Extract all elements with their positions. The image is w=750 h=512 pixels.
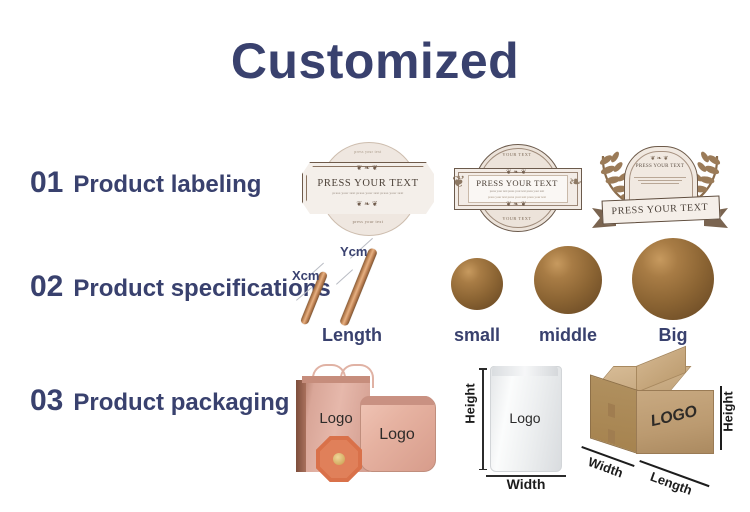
label-c-banner-text: PRESS YOUR TEXT — [602, 197, 719, 224]
sphere-small — [451, 258, 503, 310]
leader-line-y2 — [336, 269, 353, 284]
caption-sphere-middle: middle — [528, 325, 608, 346]
label-c-text-lines — [634, 174, 686, 187]
row-text-03: Product packaging — [73, 389, 289, 417]
caption-sphere-small: small — [437, 325, 517, 346]
vintage-label-laurel-crest: ❦❧❦ PRESS YOUR TEXT PRESS YOUR TEXT — [592, 142, 728, 236]
dimension-label-y: Ycm — [340, 244, 367, 259]
vintage-label-octagon: press your text ❦❧❦ PRESS YOUR TEXT pres… — [298, 142, 438, 234]
length-sticks-illustration: Xcm Ycm — [292, 238, 412, 328]
gift-packaging-illustration: Logo Logo — [296, 366, 436, 486]
label-b-top-text: YOUR TEXT — [452, 152, 582, 157]
label-a-bottom-text: press your text — [298, 219, 438, 224]
label-a-ornament-bottom-icon: ❦❧❦ — [298, 200, 438, 208]
label-c-crest-text: PRESS YOUR TEXT — [592, 164, 728, 169]
row-label-02: 02 Product specifications — [30, 270, 331, 304]
row-number-01: 01 — [30, 166, 63, 200]
sphere-big — [632, 238, 714, 320]
label-b-ornament-top-icon: ❦❧❦ — [452, 168, 582, 176]
row-number-03: 03 — [30, 384, 63, 418]
page-title: Customized — [0, 32, 750, 90]
caption-length: Length — [292, 325, 412, 346]
woven-sack-illustration: Logo Height Width — [460, 362, 580, 490]
square-tin-logo-text: Logo — [360, 426, 434, 444]
label-a-sub-text: press your text press your text press yo… — [298, 191, 438, 195]
customized-infographic: Customized 01 Product labeling press you… — [0, 0, 750, 512]
carton-height-label: Height — [721, 382, 736, 442]
label-b-bottom-text: YOUR TEXT — [452, 216, 582, 221]
woven-sack-logo-text: Logo — [490, 410, 560, 426]
carton-flap-tab-lower — [608, 429, 615, 444]
sack-width-label: Width — [486, 476, 566, 492]
label-a-top-text: press your text — [298, 150, 438, 154]
label-b-ornament-bottom-icon: ❦❧❦ — [452, 200, 582, 208]
row-label-01: 01 Product labeling — [30, 166, 261, 200]
label-b-sub-text-2: press your text press your text press yo… — [452, 195, 582, 199]
label-b-sub-text-1: press your text press your text press yo… — [452, 189, 582, 193]
label-b-flourish-right-icon: ❧ — [569, 172, 582, 191]
carton-flap-tab-upper — [608, 403, 615, 418]
label-c-ornament-icon: ❦❧❦ — [592, 155, 728, 162]
row-label-03: 03 Product packaging — [30, 384, 289, 418]
label-a-main-text: PRESS YOUR TEXT — [298, 178, 438, 189]
carton-box-illustration: LOGO Height Length Width — [578, 364, 744, 494]
woven-sack-top — [492, 366, 558, 376]
stick-long — [339, 247, 378, 326]
octagon-box-medallion-icon — [333, 453, 345, 465]
label-b-main-text: PRESS YOUR TEXT — [452, 178, 582, 188]
label-b-flourish-left-icon: ❦ — [452, 172, 465, 191]
sphere-middle — [534, 246, 602, 314]
square-tin-lid — [360, 396, 434, 405]
caption-sphere-big: Big — [633, 325, 713, 346]
label-a-ornament-top-icon: ❦❧❦ — [298, 164, 438, 172]
sack-height-dimension-line — [482, 368, 484, 470]
vintage-label-circle-band: YOUR TEXT ❦❧❦ PRESS YOUR TEXT press your… — [452, 142, 582, 234]
sack-height-label: Height — [463, 376, 478, 432]
row-number-02: 02 — [30, 270, 63, 304]
gift-bag-top-edge — [302, 376, 370, 383]
dimension-label-x: Xcm — [292, 268, 319, 283]
row-text-01: Product labeling — [73, 171, 261, 199]
